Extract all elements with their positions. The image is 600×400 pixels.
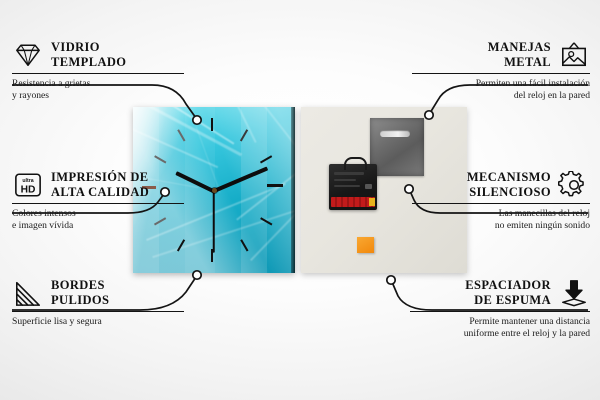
feature-divider xyxy=(12,311,184,313)
svg-text:ultra: ultra xyxy=(22,178,33,184)
feature-divider xyxy=(412,203,590,205)
feature-title: VIDRIO TEMPLADO xyxy=(51,40,126,70)
feature-description: Resistencia a grietas y rayones xyxy=(12,78,184,103)
gear-icon xyxy=(558,171,590,199)
diamond-icon xyxy=(12,41,44,69)
press-down-icon xyxy=(558,279,590,307)
feature-high-quality-print: ultra HD IMPRESIÓN DE ALTA CALIDAD Color… xyxy=(12,170,184,233)
polished-edges-icon xyxy=(12,279,44,307)
feature-divider xyxy=(12,203,184,205)
feature-title: BORDES PULIDOS xyxy=(51,278,109,308)
feature-divider xyxy=(12,73,184,75)
feature-description: Permiten una fácil instalación del reloj… xyxy=(412,78,590,103)
feature-title: ESPACIADOR DE ESPUMA xyxy=(465,278,551,308)
feature-foam-spacer: ESPACIADOR DE ESPUMA Permite mantener un… xyxy=(410,278,590,341)
ultra-hd-icon: ultra HD xyxy=(12,171,44,199)
svg-text:HD: HD xyxy=(21,184,36,195)
feature-tempered-glass: VIDRIO TEMPLADO Resistencia a grietas y … xyxy=(12,40,184,103)
feature-description: Las manecillas del reloj no emiten ningú… xyxy=(412,208,590,233)
feature-divider xyxy=(410,311,590,313)
feature-description: Superficie lisa y segura xyxy=(12,316,184,328)
connector-dot-spacer xyxy=(387,276,395,284)
feature-metal-hooks: MANEJAS METAL Permiten una fácil instala… xyxy=(412,40,590,103)
connector-dot-hooks xyxy=(425,111,433,119)
feature-polished-edges: BORDES PULIDOS Superficie lisa y segura xyxy=(12,278,184,328)
connector-dot-tempered-glass xyxy=(193,116,201,124)
feature-silent-mechanism: MECANISMO SILENCIOSO Las manecillas del … xyxy=(412,170,590,233)
connector-dot-edges xyxy=(193,271,201,279)
feature-divider xyxy=(412,73,590,75)
feature-title: MECANISMO SILENCIOSO xyxy=(467,170,551,200)
feature-title: IMPRESIÓN DE ALTA CALIDAD xyxy=(51,170,149,200)
picture-frame-icon xyxy=(558,41,590,69)
feature-description: Permite mantener una distancia uniforme … xyxy=(410,316,590,341)
feature-description: Colores intensos e imagen vívida xyxy=(12,208,184,233)
infographic-canvas: VIDRIO TEMPLADO Resistencia a grietas y … xyxy=(0,0,600,400)
feature-title: MANEJAS METAL xyxy=(488,40,551,70)
